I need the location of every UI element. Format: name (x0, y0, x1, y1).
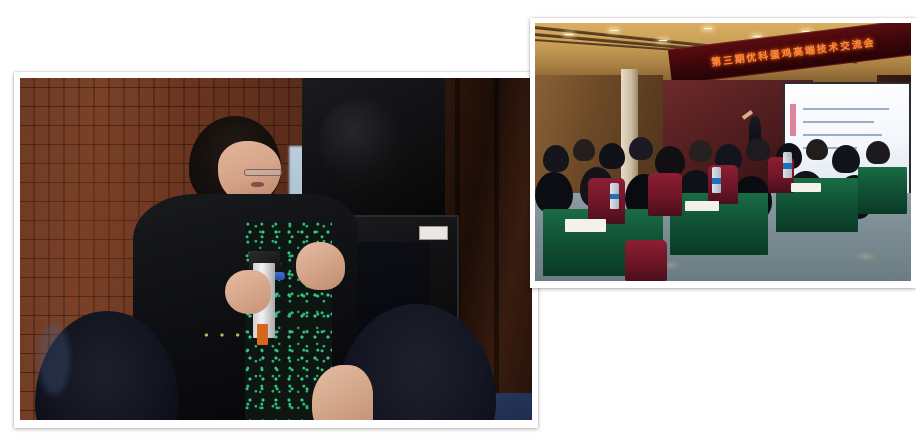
audience-head (543, 145, 569, 172)
slide-text-line (803, 121, 875, 123)
equipment-label (419, 226, 448, 240)
chair-cover (625, 240, 666, 281)
handout-paper (685, 201, 719, 211)
speaker-photo-frame[interactable] (14, 72, 538, 428)
ceiling-downlight (753, 36, 761, 37)
handout-paper (791, 183, 821, 192)
slide-accent-block (790, 104, 796, 137)
water-bottle (712, 167, 721, 193)
speaker-left-hand (225, 270, 271, 314)
audience-head (629, 137, 653, 161)
audience-head (573, 139, 596, 162)
ceiling-downlight (704, 28, 712, 29)
audience-head (535, 172, 573, 213)
banquet-table (858, 167, 907, 213)
handout-paper (565, 219, 606, 232)
audience-head (655, 146, 685, 176)
audience-head (746, 138, 770, 162)
eyeglasses (244, 169, 282, 176)
audience-head (689, 140, 712, 163)
ceiling-downlight (610, 30, 618, 31)
audience-photo-frame[interactable]: 第三期优科蛋鸡高端技术交流会 (530, 18, 916, 288)
water-bottle (783, 152, 792, 178)
slide-text-line (803, 134, 882, 136)
chair-cover (648, 173, 682, 217)
mouth (251, 182, 264, 187)
slide-text-line (803, 108, 890, 110)
speaker-right-hand (296, 242, 345, 290)
audience-head (599, 143, 625, 169)
audience-photo-canvas: 第三期优科蛋鸡高端技术交流会 (535, 23, 911, 281)
blazer-buttons (199, 331, 245, 339)
audience-head (866, 141, 890, 165)
speaker-photo-canvas (20, 78, 532, 420)
water-bottle (610, 183, 619, 209)
audience-head (832, 145, 860, 173)
microphone-orange-accent (257, 324, 268, 345)
audience-head (806, 139, 829, 161)
chair-cover (588, 178, 626, 224)
